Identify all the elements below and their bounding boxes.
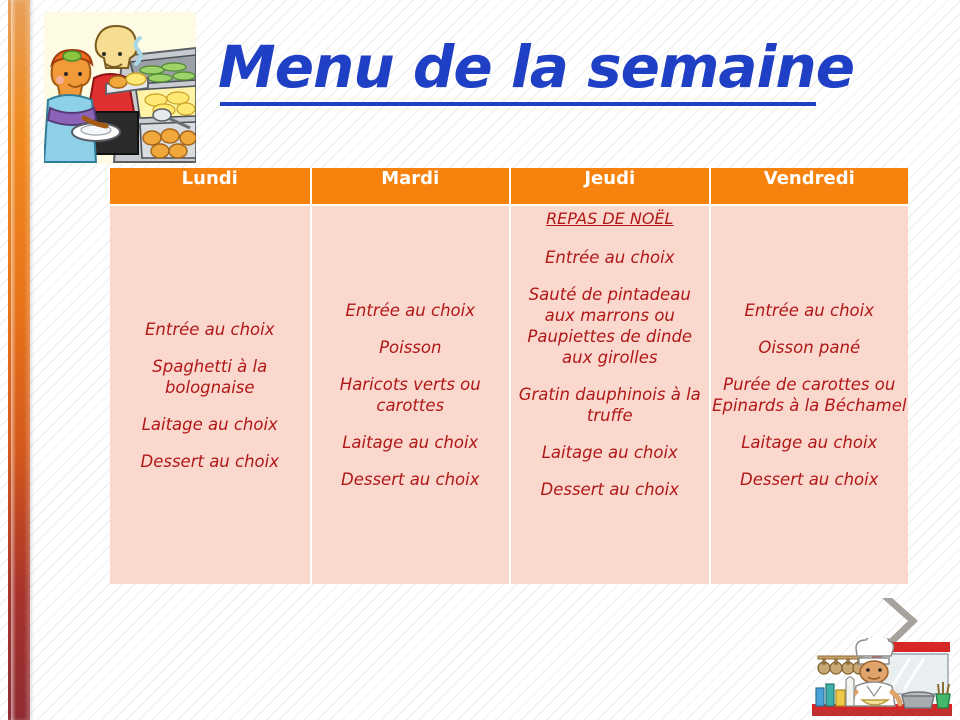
- page-title: Menu de la semaine: [218, 34, 858, 100]
- menu-item: Entrée au choix: [711, 300, 909, 321]
- menu-item: Dessert au choix: [711, 469, 909, 490]
- menu-item: Dessert au choix: [312, 469, 510, 490]
- menu-item: Dessert au choix: [110, 451, 310, 472]
- menu-lines-lundi: Entrée au choix Spaghetti à la bolognais…: [110, 206, 310, 584]
- slide-canvas: Menu de la semaine: [0, 0, 960, 720]
- menu-item: Dessert au choix: [511, 479, 709, 500]
- menu-item: Entrée au choix: [312, 300, 510, 321]
- menu-item: Laitage au choix: [711, 432, 909, 453]
- menu-item: Spaghetti à la bolognaise: [110, 356, 310, 398]
- title-underline: [220, 102, 816, 106]
- menu-lines-jeudi: REPAS DE NOËL Entrée au choix Sauté de p…: [511, 206, 709, 584]
- menu-table-head: Lundi Mardi Jeudi Vendredi: [110, 168, 908, 206]
- menu-item: Gratin dauphinois à la truffe: [511, 384, 709, 426]
- menu-item: Poisson: [312, 337, 510, 358]
- menu-item: Laitage au choix: [110, 414, 310, 435]
- menu-item: Laitage au choix: [511, 442, 709, 463]
- title-block: Menu de la semaine: [218, 34, 858, 116]
- weekly-menu-table: Lundi Mardi Jeudi Vendredi Entrée au cho…: [110, 168, 908, 584]
- menu-item: Haricots verts ou carottes: [312, 374, 510, 416]
- menu-header-row: Lundi Mardi Jeudi Vendredi: [110, 168, 908, 206]
- cafeteria-clipart-svg: [44, 12, 196, 164]
- menu-section-heading: REPAS DE NOËL: [511, 208, 709, 229]
- menu-item: Laitage au choix: [312, 432, 510, 453]
- chef-clipart-svg: [812, 638, 952, 720]
- chef-clipart: [812, 638, 952, 720]
- menu-item: Purée de carottes ou Epinards à la Bécha…: [711, 374, 909, 416]
- left-accent-bar-highlight: [11, 0, 16, 720]
- cafeteria-clipart: [44, 12, 196, 164]
- day-header-lundi: Lundi: [110, 168, 310, 206]
- menu-item: Oisson pané: [711, 337, 909, 358]
- day-header-jeudi: Jeudi: [509, 168, 709, 206]
- day-header-mardi: Mardi: [310, 168, 510, 206]
- menu-table-body: Entrée au choix Spaghetti à la bolognais…: [110, 206, 908, 584]
- menu-cell-jeudi: REPAS DE NOËL Entrée au choix Sauté de p…: [509, 206, 709, 584]
- menu-item: Entrée au choix: [110, 319, 310, 340]
- menu-content-row: Entrée au choix Spaghetti à la bolognais…: [110, 206, 908, 584]
- menu-cell-mardi: Entrée au choix Poisson Haricots verts o…: [310, 206, 510, 584]
- menu-cell-lundi: Entrée au choix Spaghetti à la bolognais…: [110, 206, 310, 584]
- menu-cell-vendredi: Entrée au choix Oisson pané Purée de car…: [709, 206, 909, 584]
- menu-item: Sauté de pintadeau aux marrons ou Paupie…: [511, 284, 709, 368]
- menu-item: Entrée au choix: [511, 247, 709, 268]
- menu-lines-mardi: Entrée au choix Poisson Haricots verts o…: [312, 206, 510, 584]
- menu-lines-vendredi: Entrée au choix Oisson pané Purée de car…: [711, 206, 909, 584]
- day-header-vendredi: Vendredi: [709, 168, 909, 206]
